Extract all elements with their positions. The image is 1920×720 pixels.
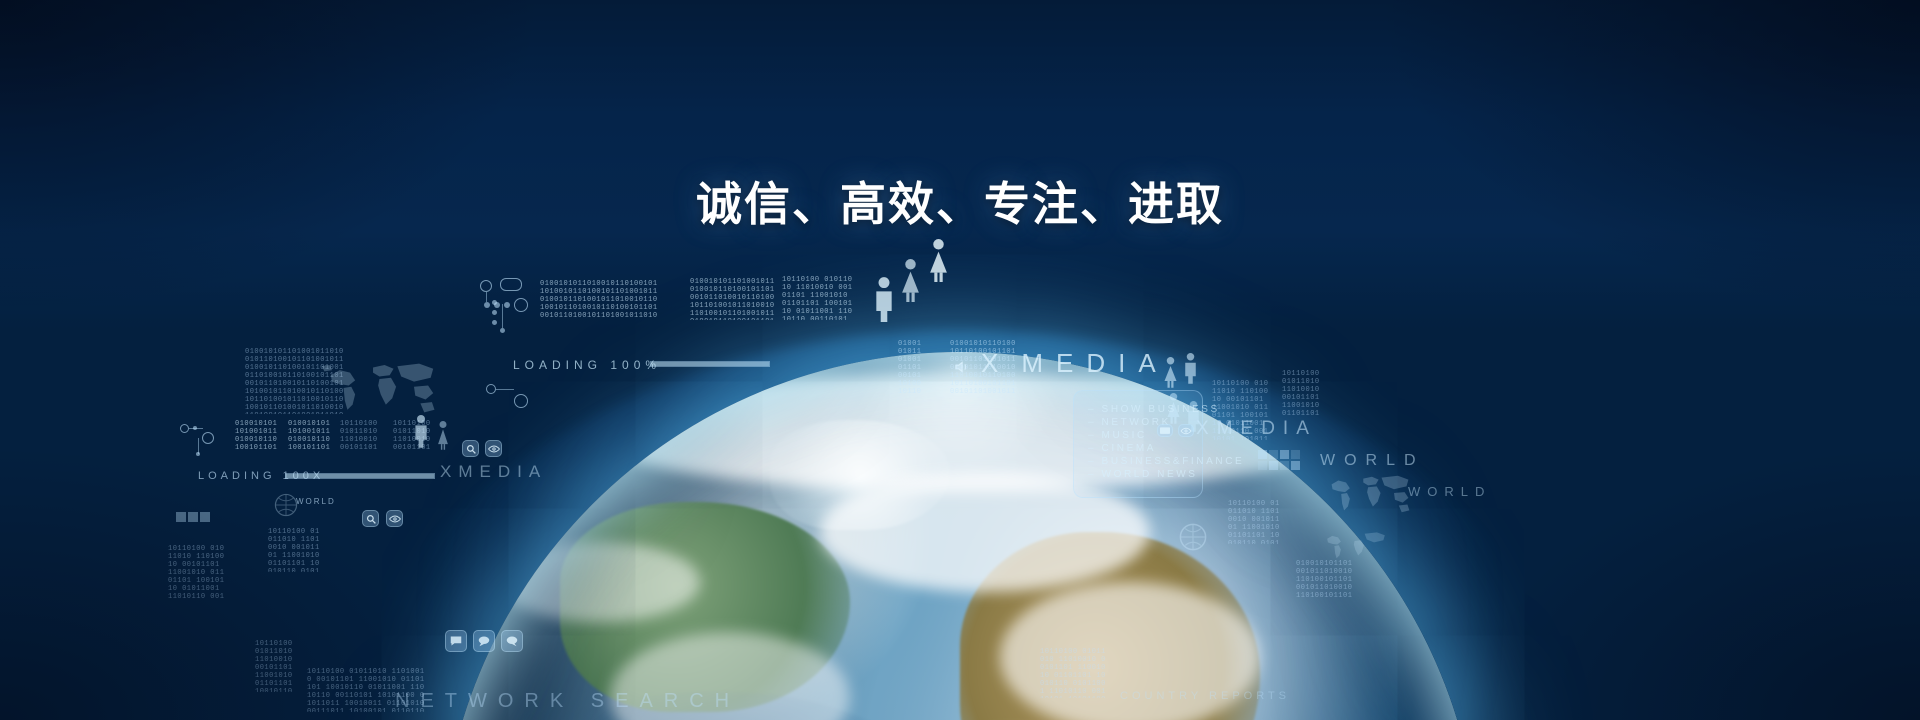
category-item-5[interactable]: WORLD NEWS bbox=[1088, 468, 1244, 481]
node-cluster-center-2 bbox=[486, 384, 530, 410]
node-dot-d3 bbox=[492, 320, 497, 325]
eye-icon-box-left[interactable] bbox=[386, 510, 403, 527]
node-dot-d4 bbox=[500, 328, 505, 333]
code-block-left-5: 10110100 01011010 11010010 00101101 1100… bbox=[255, 640, 301, 692]
world-map-right bbox=[1322, 470, 1418, 518]
category-item-3[interactable]: CINEMA bbox=[1088, 442, 1244, 455]
person-icon-woman-1 bbox=[900, 258, 921, 302]
person-icon-right-2 bbox=[1183, 352, 1198, 384]
loading-label-top: LOADING 100% bbox=[513, 358, 661, 372]
code-block-left-3: 10110100 01011010 11010010 00101101 1100… bbox=[168, 545, 228, 601]
node-circle-c bbox=[480, 280, 492, 292]
binary-block-left-1: 0100101011010010110100101101001011010010… bbox=[235, 420, 281, 450]
code-block-right-1: 10110100 01011010 11010010 00101101 1100… bbox=[1212, 380, 1272, 440]
chat-icon-2[interactable] bbox=[473, 630, 495, 652]
country-reports-label: COUNTRY REPORTS bbox=[1120, 690, 1290, 702]
search-icon-box-left[interactable] bbox=[362, 510, 379, 527]
node-circle-b bbox=[202, 432, 214, 444]
world-small-left-label: WORLD bbox=[296, 497, 336, 506]
monitor-icon-right[interactable] bbox=[1157, 424, 1173, 437]
code-block-right-4: 0100101011010010110100101101001011010010… bbox=[1296, 560, 1356, 600]
node-dot-b bbox=[196, 452, 200, 456]
binary-block-center-2: 0100101011010010110100101101001011010010… bbox=[690, 278, 776, 320]
search-icon-box-center[interactable] bbox=[462, 440, 479, 457]
chat-icon-1[interactable] bbox=[445, 630, 467, 652]
person-icon-right-1 bbox=[1163, 356, 1178, 388]
page-title: 诚信、高效、专注、进取 bbox=[0, 168, 1920, 234]
code-block-left-4: 10110100 01011010 11010010 00101101 1100… bbox=[268, 528, 320, 572]
world-label-right-1: WORLD bbox=[1320, 452, 1425, 470]
loading-progress-bottom bbox=[285, 473, 435, 479]
media-x-left: X bbox=[440, 462, 458, 481]
eye-icon-box-center[interactable] bbox=[485, 440, 502, 457]
loading-progress-top bbox=[650, 361, 770, 367]
person-icon-left-2 bbox=[436, 420, 450, 450]
network-search-label: NETWORK SEARCH bbox=[395, 690, 740, 713]
media-category-panel[interactable]: SHOW BUSINESS NETWORK MUSIC CINEMA BUSIN… bbox=[1073, 390, 1203, 498]
node-dot-d2 bbox=[492, 310, 497, 315]
code-block-right-3: 10110100 01011010 11010010 00101101 1100… bbox=[1228, 500, 1284, 544]
code-block-bottom-center: 10110100 01011010 11010010 00101101 1100… bbox=[1040, 648, 1110, 698]
node-rounded-rect bbox=[500, 278, 522, 291]
node-link-d bbox=[502, 304, 503, 328]
world-map-far-right bbox=[1320, 528, 1392, 564]
binary-block-left-2: 0100101011010010110100101101001011010010… bbox=[288, 420, 334, 450]
hero-banner: 诚信、高效、专注、进取 0100101011010010110100101101… bbox=[0, 0, 1920, 720]
node-circle-a bbox=[180, 424, 189, 433]
binary-block-left-large: 0100101011010010110100101101001011010010… bbox=[245, 348, 345, 414]
media-word-left: MEDIA bbox=[458, 462, 547, 481]
world-label-right-2: WORLD bbox=[1408, 484, 1491, 499]
chip-grid-left bbox=[176, 512, 210, 522]
binary-block-right-1: 0100101011010010110100101101001011010010… bbox=[898, 340, 922, 396]
binary-block-center-3: 10110100 01011010 11010010 00101101 1100… bbox=[782, 276, 854, 320]
chat-icon-3[interactable] bbox=[501, 630, 523, 652]
node-circle-f bbox=[514, 394, 528, 408]
node-link-e bbox=[496, 389, 514, 390]
category-item-4[interactable]: BUSINESS&FINANCE bbox=[1088, 455, 1244, 468]
node-dot-d1 bbox=[492, 300, 497, 305]
node-circle-e bbox=[486, 384, 496, 394]
globe-icon-bottom-right bbox=[1178, 522, 1208, 552]
code-block-right-2: 10110100 01011010 11010010 00101101 1100… bbox=[1282, 370, 1326, 416]
brand-media-word: MEDIA bbox=[1021, 348, 1168, 378]
person-icon-man bbox=[873, 276, 895, 322]
binary-block-right-2: 0100101011010010110100101101001011010010… bbox=[950, 340, 1016, 396]
person-icon-left bbox=[413, 414, 429, 448]
chip-grid-right bbox=[1258, 450, 1300, 470]
media-label-bottom-left: XMEDIA bbox=[440, 462, 547, 482]
top-gradient-overlay bbox=[0, 0, 1920, 330]
node-link-a bbox=[189, 428, 203, 429]
eye-icon-right[interactable] bbox=[1178, 424, 1194, 437]
node-cluster-center-lower bbox=[490, 300, 530, 334]
code-block-left-1: 10110100 01011010 11010010 00101101 1100… bbox=[340, 420, 386, 450]
node-link-c bbox=[486, 292, 487, 302]
person-icon-woman-2 bbox=[928, 238, 949, 282]
binary-block-center-1: 0100101011010010110100101101001011010010… bbox=[540, 280, 660, 318]
node-cluster-left bbox=[178, 420, 220, 458]
